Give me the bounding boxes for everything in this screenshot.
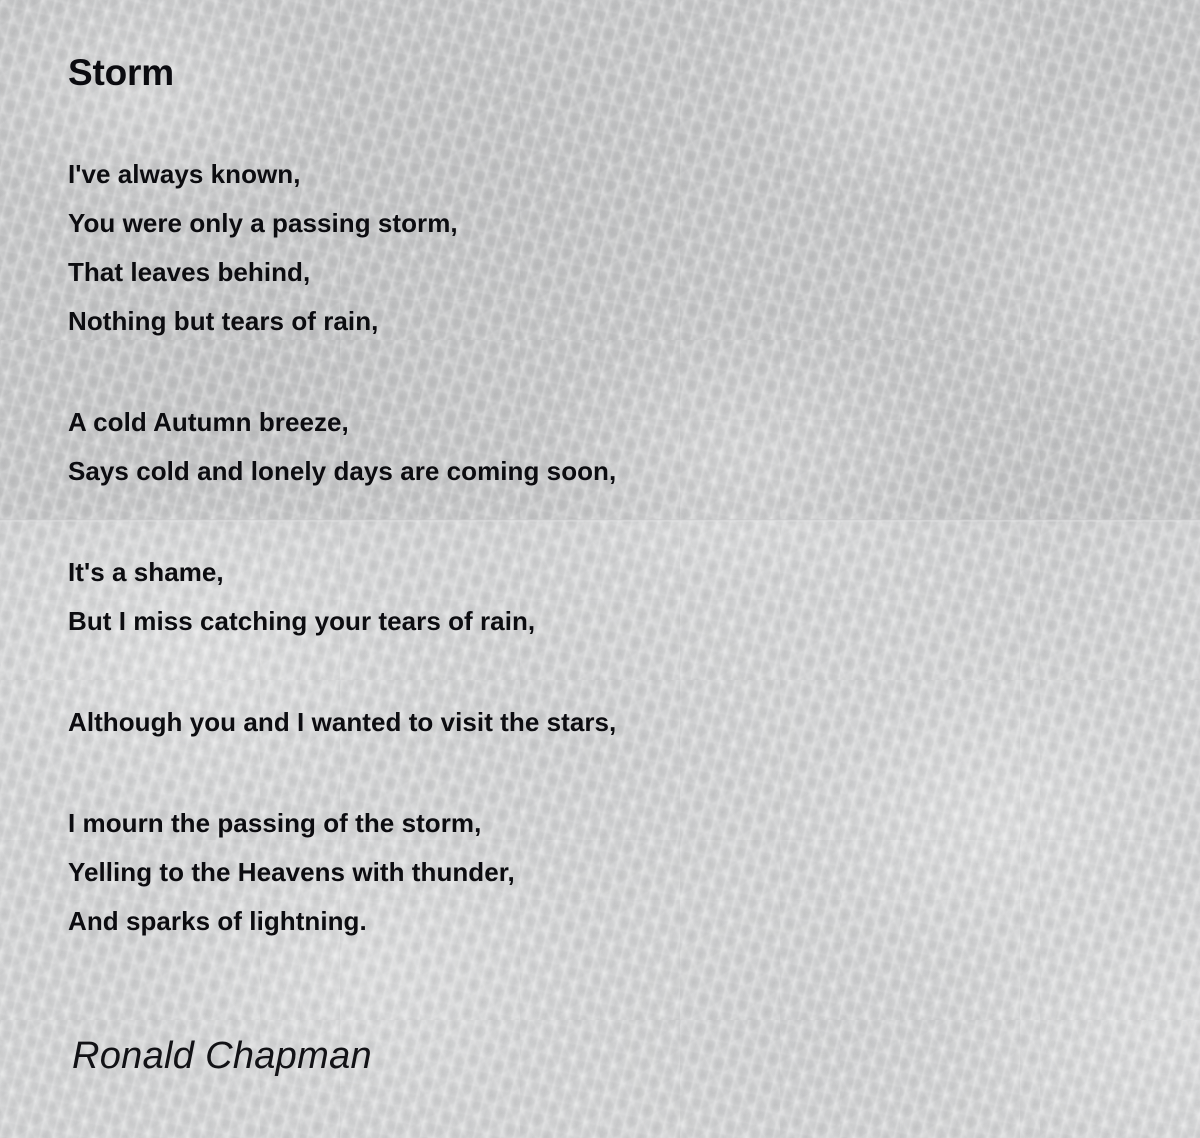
poem-line: Says cold and lonely days are coming soo…	[68, 447, 1128, 496]
poem-content: Storm I've always known, You were only a…	[0, 0, 1200, 1138]
poem-title: Storm	[68, 52, 174, 94]
poem-stanza: I've always known, You were only a passi…	[68, 150, 1128, 346]
poem-line: That leaves behind,	[68, 248, 1128, 297]
poem-line: But I miss catching your tears of rain,	[68, 597, 1128, 646]
poem-stanza: Although you and I wanted to visit the s…	[68, 698, 1128, 747]
poem-line: And sparks of lightning.	[68, 897, 1128, 946]
poem-line: It's a shame,	[68, 548, 1128, 597]
poem-stanza: A cold Autumn breeze, Says cold and lone…	[68, 398, 1128, 496]
poem-stanza: It's a shame, But I miss catching your t…	[68, 548, 1128, 646]
poem-image-canvas: Storm I've always known, You were only a…	[0, 0, 1200, 1138]
poem-author-signature: Ronald Chapman	[72, 1035, 372, 1078]
poem-line: I've always known,	[68, 150, 1128, 199]
poem-line: You were only a passing storm,	[68, 199, 1128, 248]
poem-line: A cold Autumn breeze,	[68, 398, 1128, 447]
poem-stanza: I mourn the passing of the storm, Yellin…	[68, 799, 1128, 946]
poem-body: I've always known, You were only a passi…	[68, 150, 1128, 998]
poem-line: I mourn the passing of the storm,	[68, 799, 1128, 848]
poem-line: Nothing but tears of rain,	[68, 297, 1128, 346]
poem-line: Although you and I wanted to visit the s…	[68, 698, 1128, 747]
poem-line: Yelling to the Heavens with thunder,	[68, 848, 1128, 897]
